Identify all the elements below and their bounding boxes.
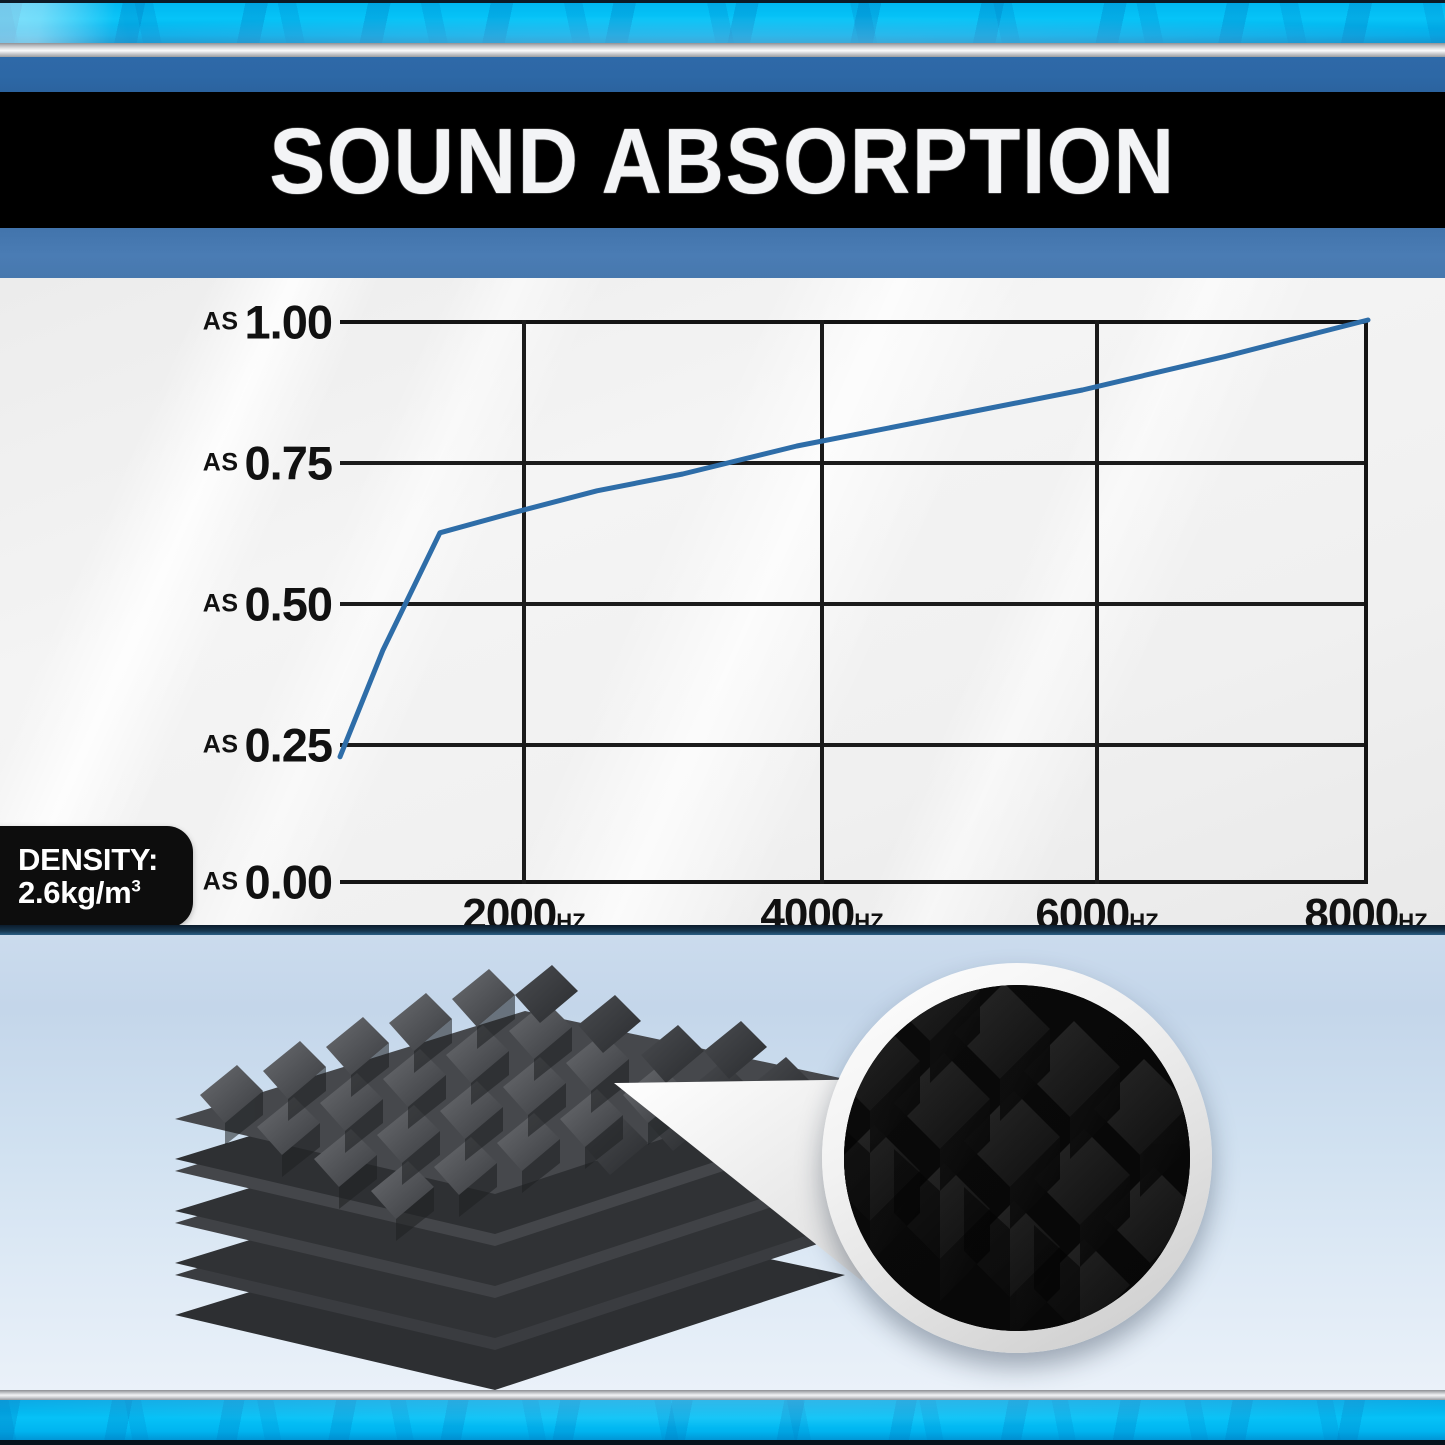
x-tick-unit: HZ bbox=[556, 909, 585, 925]
density-badge: DENSITY: 2.6kg/m3 bbox=[0, 826, 193, 925]
absorption-curve bbox=[340, 320, 1368, 884]
y-tick-prefix: AS bbox=[203, 731, 239, 760]
y-tick-prefix: AS bbox=[203, 308, 239, 337]
y-tick-0.25: AS 0.25 bbox=[203, 718, 332, 773]
x-tick-unit: HZ bbox=[1398, 909, 1427, 925]
poster-root: SOUND ABSORPTION AS 1.00 AS 0.75 bbox=[0, 0, 1445, 1445]
y-tick-value: 0.50 bbox=[245, 577, 332, 632]
x-tick-6000: 6000 HZ bbox=[1035, 890, 1158, 925]
y-tick-value: 0.75 bbox=[245, 436, 332, 491]
bottom-chrome-strip bbox=[0, 1390, 1445, 1400]
x-tick-2000: 2000 HZ bbox=[462, 890, 585, 925]
mid-blue-band bbox=[0, 228, 1445, 278]
x-tick-unit: HZ bbox=[854, 909, 883, 925]
x-tick-value: 4000 bbox=[760, 890, 854, 925]
top-cyan-band bbox=[0, 3, 1445, 43]
density-superscript: 3 bbox=[131, 877, 140, 896]
y-tick-0.75: AS 0.75 bbox=[203, 436, 332, 491]
x-tick-value: 8000 bbox=[1304, 890, 1398, 925]
y-tick-value: 1.00 bbox=[245, 295, 332, 350]
product-photo-section bbox=[0, 925, 1445, 1390]
bottom-cyan-band bbox=[0, 1400, 1445, 1440]
foam-detail-texture bbox=[844, 985, 1190, 1331]
x-tick-value: 6000 bbox=[1035, 890, 1129, 925]
x-tick-8000: 8000 HZ bbox=[1304, 890, 1427, 925]
top-chrome-strip bbox=[0, 43, 1445, 57]
y-tick-prefix: AS bbox=[203, 590, 239, 619]
bottom-edge-line bbox=[0, 1440, 1445, 1445]
density-label: DENSITY: bbox=[18, 843, 193, 876]
page-title: SOUND ABSORPTION bbox=[269, 113, 1175, 206]
magnifier-image bbox=[844, 985, 1190, 1331]
y-tick-prefix: AS bbox=[203, 449, 239, 478]
top-blue-band bbox=[0, 57, 1445, 92]
chart-panel: AS 1.00 AS 0.75 AS 0.50 AS 0.25 AS 0.00 … bbox=[0, 278, 1445, 925]
x-tick-unit: HZ bbox=[1129, 909, 1158, 925]
title-bar: SOUND ABSORPTION bbox=[0, 92, 1445, 228]
y-tick-value: 0.25 bbox=[245, 718, 332, 773]
y-tick-1.00: AS 1.00 bbox=[203, 295, 332, 350]
y-tick-0.00: AS 0.00 bbox=[203, 855, 332, 910]
density-number: 2.6kg/m bbox=[18, 875, 131, 910]
density-value: 2.6kg/m3 bbox=[18, 876, 193, 911]
foam-detail-magnifier bbox=[822, 963, 1212, 1353]
y-tick-value: 0.00 bbox=[245, 855, 332, 910]
x-tick-value: 2000 bbox=[462, 890, 556, 925]
y-tick-0.50: AS 0.50 bbox=[203, 577, 332, 632]
plot-area: AS 1.00 AS 0.75 AS 0.50 AS 0.25 AS 0.00 … bbox=[340, 320, 1368, 884]
x-tick-4000: 4000 HZ bbox=[760, 890, 883, 925]
y-tick-prefix: AS bbox=[203, 868, 239, 897]
